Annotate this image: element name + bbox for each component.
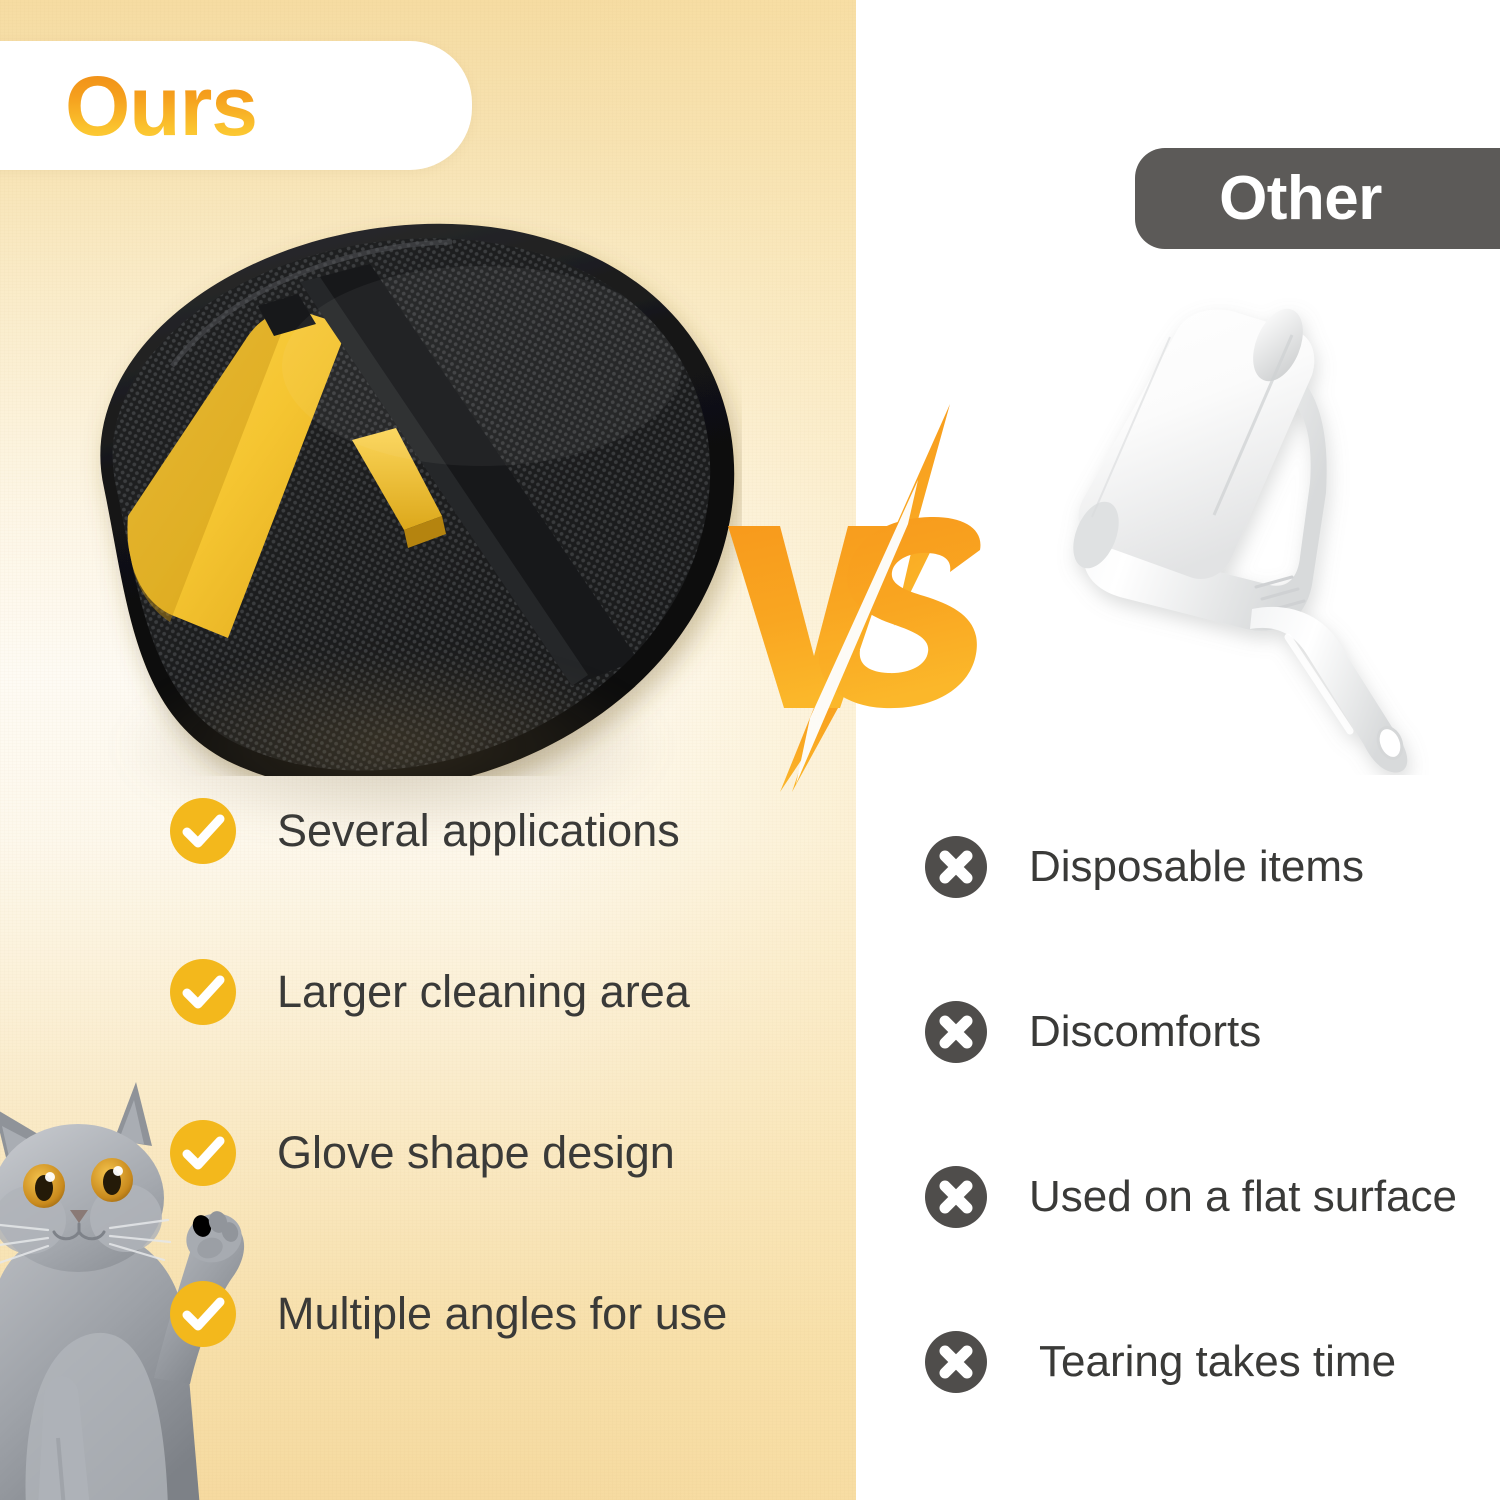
list-item: Disposable items xyxy=(925,836,1465,898)
list-item: Glove shape design xyxy=(170,1120,770,1186)
cross-icon xyxy=(925,1001,987,1063)
cross-icon xyxy=(925,1331,987,1393)
lightning-bolt-vs-icon xyxy=(718,388,1018,808)
check-icon xyxy=(170,1120,236,1186)
list-item-label: Tearing takes time xyxy=(1039,1338,1396,1386)
check-icon xyxy=(170,798,236,864)
list-item-label: Multiple angles for use xyxy=(277,1289,727,1339)
lint-roller-image xyxy=(1000,285,1460,775)
other-feature-list: Disposable items Discomforts Used on a f… xyxy=(925,836,1465,1393)
list-item: Larger cleaning area xyxy=(170,959,770,1025)
list-item-label: Several applications xyxy=(277,806,680,856)
list-item: Tearing takes time xyxy=(925,1331,1465,1393)
list-item-label: Disposable items xyxy=(1029,843,1364,891)
list-item-label: Discomforts xyxy=(1029,1008,1261,1056)
check-icon xyxy=(170,1281,236,1347)
list-item-label: Larger cleaning area xyxy=(277,967,690,1017)
versus-graphic xyxy=(718,388,1018,808)
list-item-label: Used on a flat surface xyxy=(1029,1173,1457,1221)
cross-icon xyxy=(925,1166,987,1228)
list-item: Several applications xyxy=(170,798,770,864)
comparison-infographic: Ours Other xyxy=(0,0,1500,1500)
other-badge: Other xyxy=(1135,148,1500,249)
pet-hair-removal-glove-image xyxy=(52,186,742,776)
lint-roller-icon xyxy=(1000,285,1460,775)
check-icon xyxy=(170,959,236,1025)
ours-feature-list: Several applications Larger cleaning are… xyxy=(170,798,770,1347)
ours-badge-label: Ours xyxy=(65,64,397,148)
cross-icon xyxy=(925,836,987,898)
list-item: Discomforts xyxy=(925,1001,1465,1063)
list-item: Multiple angles for use xyxy=(170,1281,770,1347)
list-item-label: Glove shape design xyxy=(277,1128,675,1178)
other-badge-label: Other xyxy=(1219,168,1426,230)
list-item: Used on a flat surface xyxy=(925,1166,1465,1228)
ours-badge: Ours xyxy=(0,41,472,170)
